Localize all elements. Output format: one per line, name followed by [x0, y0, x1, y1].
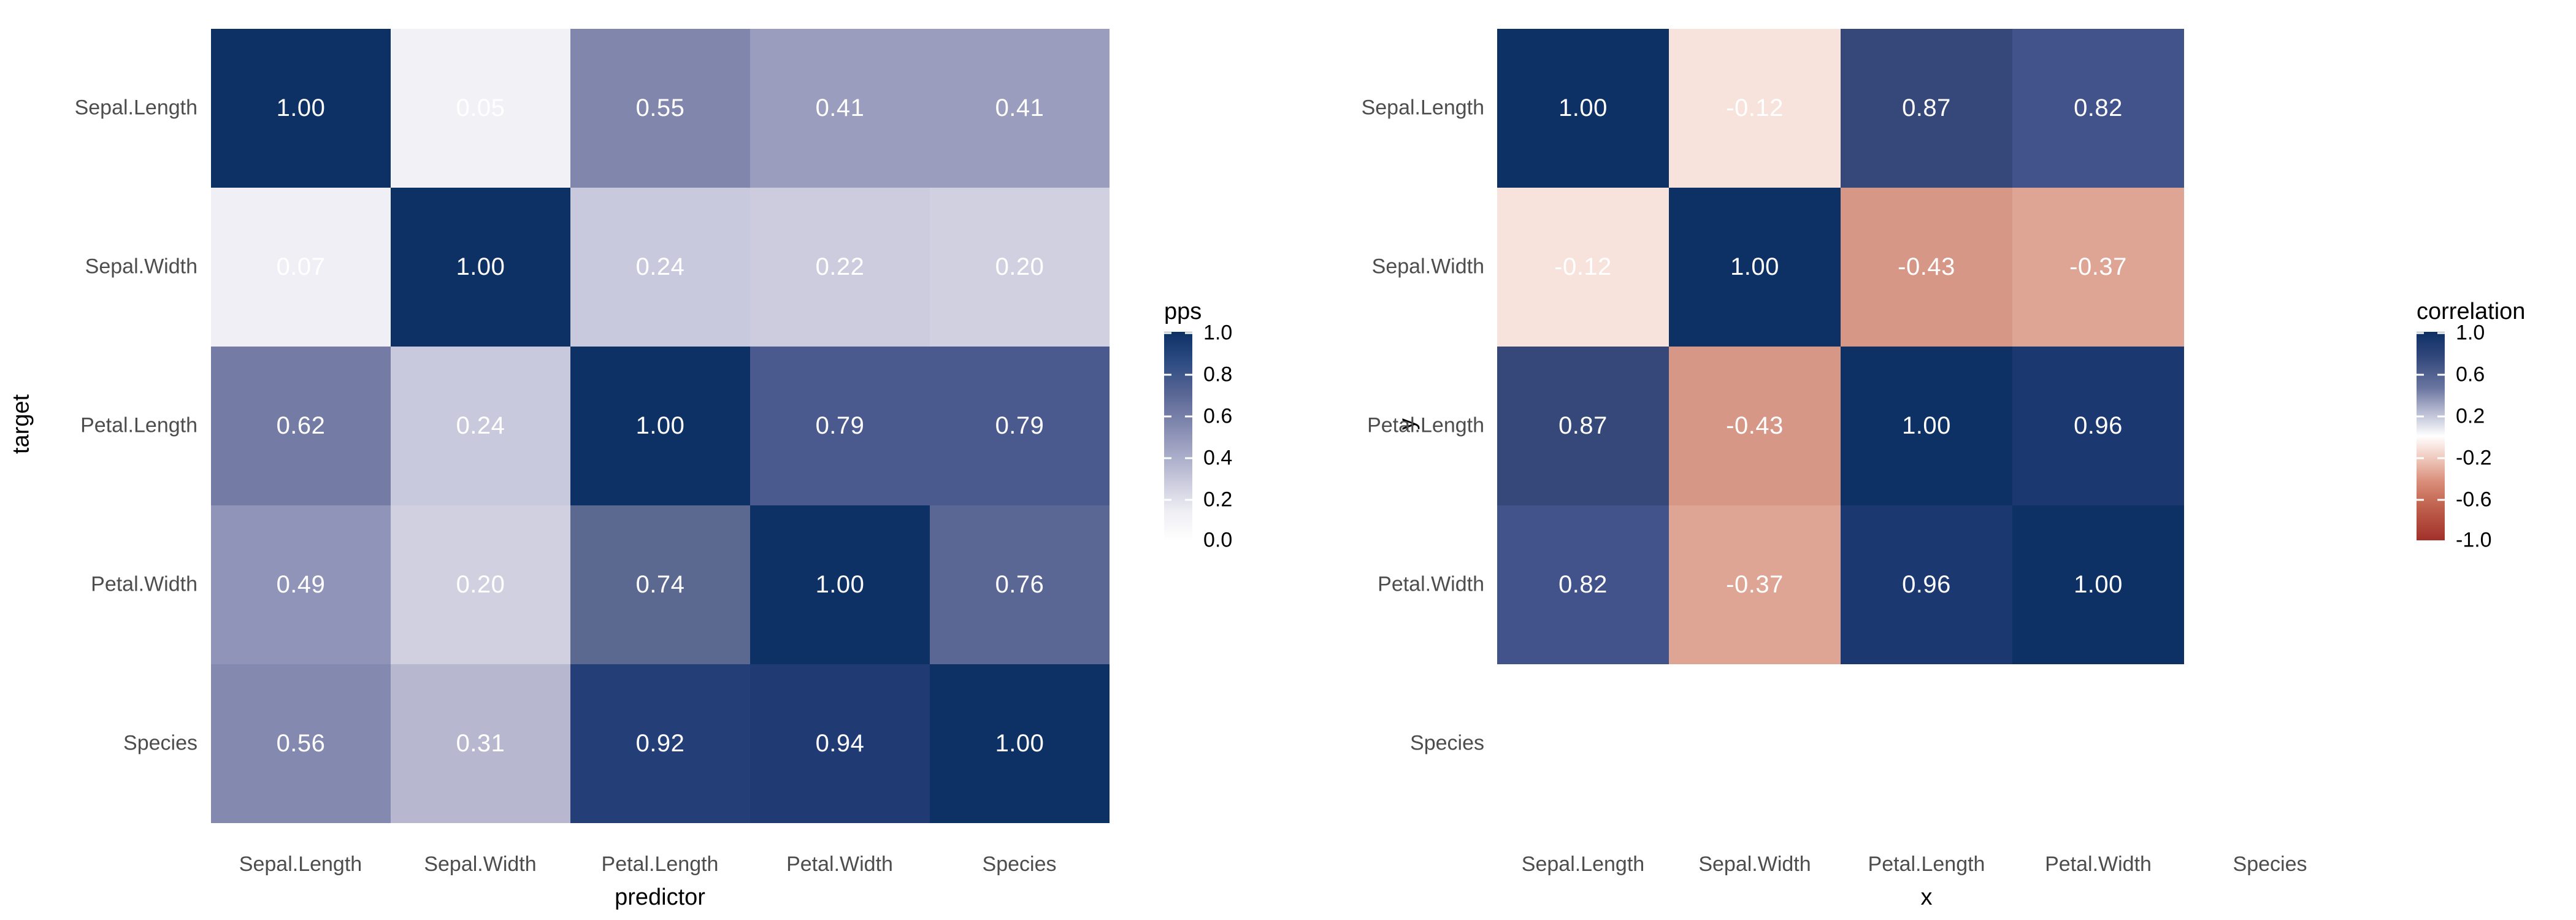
heat-cell[interactable]: 0.96	[1841, 505, 2012, 664]
pps-legend-tick-line	[1164, 499, 1171, 501]
heat-cell[interactable]: 0.79	[930, 347, 1110, 505]
corr-y-tick-4: Species	[1325, 732, 1484, 756]
heat-cell[interactable]: 1.00	[750, 505, 930, 664]
heat-cell-empty	[2012, 664, 2184, 823]
heat-cell[interactable]: 0.62	[211, 347, 391, 505]
heat-cell[interactable]: -0.37	[1669, 505, 1841, 664]
corr-y-tick-1: Sepal.Width	[1325, 255, 1484, 279]
heat-cell[interactable]: 0.56	[211, 664, 391, 823]
heat-cell[interactable]: 0.82	[2012, 29, 2184, 188]
corr-legend-tick-line	[2437, 458, 2445, 459]
pps-legend-tick-line	[1185, 458, 1192, 459]
heat-cell[interactable]: 0.92	[570, 664, 750, 823]
pps-legend-tick-line	[1185, 416, 1192, 418]
heat-cell-empty	[2184, 664, 2356, 823]
corr-legend-colorbar	[2417, 332, 2445, 540]
heat-cell[interactable]: 0.41	[930, 29, 1110, 188]
heat-cell[interactable]: 0.24	[570, 188, 750, 347]
heat-cell[interactable]: 0.24	[391, 347, 570, 505]
heat-cell[interactable]: 0.94	[750, 664, 930, 823]
heat-cell[interactable]: -0.43	[1669, 347, 1841, 505]
heat-cell[interactable]: 0.79	[750, 347, 930, 505]
heat-cell[interactable]: 1.00	[391, 188, 570, 347]
heat-cell-empty	[2184, 29, 2356, 188]
pps-legend-tick-line	[1164, 374, 1171, 376]
corr-x-tick-1: Sepal.Width	[1698, 853, 1811, 876]
heat-cell-empty	[2184, 505, 2356, 664]
pps-legend: pps 1.0 0.8 0.6 0.4 0.2 0.0	[1164, 299, 1287, 556]
heat-cell[interactable]: 0.76	[930, 505, 1110, 664]
heat-cell-empty	[2184, 188, 2356, 347]
heat-cell[interactable]: 0.87	[1497, 347, 1669, 505]
pps-legend-tick-label: 0.4	[1203, 447, 1232, 470]
corr-legend: correlation 1.0 0.6 0.2 -0.2 -0.6 -1.0	[2417, 299, 2564, 556]
pps-legend-tick-label: 0.6	[1203, 405, 1232, 429]
pps-legend-tick-line	[1164, 332, 1171, 334]
pps-x-tick-2: Petal.Length	[602, 853, 719, 876]
heat-cell[interactable]: 0.20	[391, 505, 570, 664]
corr-legend-tick-line	[2417, 499, 2424, 501]
heat-cell[interactable]: -0.12	[1497, 188, 1669, 347]
heat-cell[interactable]: 1.00	[1669, 188, 1841, 347]
corr-y-tick-3: Petal.Width	[1325, 573, 1484, 597]
pps-x-tick-1: Sepal.Width	[424, 853, 536, 876]
corr-legend-tick-label: 0.6	[2456, 363, 2485, 387]
pps-x-tick-4: Species	[983, 853, 1057, 876]
pps-legend-colorbar	[1164, 332, 1192, 540]
pps-y-tick-2: Petal.Length	[38, 414, 197, 438]
corr-y-tick-2: Petal.Length	[1325, 414, 1484, 438]
heat-cell[interactable]: -0.12	[1669, 29, 1841, 188]
heat-cell[interactable]: 0.55	[570, 29, 750, 188]
pps-legend-tick-line	[1185, 332, 1192, 334]
corr-x-tick-3: Petal.Width	[2045, 853, 2152, 876]
heat-cell[interactable]: 1.00	[2012, 505, 2184, 664]
corr-legend-tick-line	[2417, 416, 2424, 418]
corr-legend-tick-label: -1.0	[2456, 529, 2492, 553]
heat-cell[interactable]: -0.37	[2012, 188, 2184, 347]
pps-legend-tick-label: 0.8	[1203, 363, 1232, 387]
corr-legend-tick-label: -0.6	[2456, 488, 2492, 512]
pps-y-tick-0: Sepal.Length	[38, 96, 197, 120]
heat-cell[interactable]: 1.00	[1841, 347, 2012, 505]
heat-cell[interactable]: 0.20	[930, 188, 1110, 347]
pps-legend-tick-line	[1185, 374, 1192, 376]
pps-y-tick-4: Species	[38, 732, 197, 756]
pps-y-tick-1: Sepal.Width	[38, 255, 197, 279]
heat-cell[interactable]: 0.41	[750, 29, 930, 188]
corr-x-tick-4: Species	[2233, 853, 2307, 876]
pps-x-axis-title: predictor	[615, 884, 705, 911]
corr-legend-tick-line	[2437, 416, 2445, 418]
pps-legend-tick-label: 0.2	[1203, 488, 1232, 512]
pps-y-tick-3: Petal.Width	[38, 573, 197, 597]
pps-legend-tick-line	[1164, 458, 1171, 459]
corr-legend-tick-label: 1.0	[2456, 321, 2485, 345]
heat-cell-empty	[1841, 664, 2012, 823]
heat-cell[interactable]: 0.96	[2012, 347, 2184, 505]
heat-cell[interactable]: 0.49	[211, 505, 391, 664]
corr-x-tick-0: Sepal.Length	[1522, 853, 1644, 876]
heat-cell[interactable]: 1.00	[570, 347, 750, 505]
heat-cell[interactable]: 0.31	[391, 664, 570, 823]
pps-legend-tick-line	[1164, 416, 1171, 418]
heat-cell[interactable]: 0.87	[1841, 29, 2012, 188]
heat-cell[interactable]: 0.22	[750, 188, 930, 347]
corr-x-axis-title: x	[1921, 884, 1933, 911]
corr-legend-tick-line	[2437, 499, 2445, 501]
corr-legend-tick-label: -0.2	[2456, 447, 2492, 470]
pps-x-tick-3: Petal.Width	[786, 853, 893, 876]
pps-legend-tick-label: 0.0	[1203, 529, 1232, 553]
corr-heat-grid: 1.00 -0.12 0.87 0.82 -0.12 1.00 -0.43 -0…	[1497, 29, 2356, 823]
heat-cell[interactable]: 1.00	[930, 664, 1110, 823]
heat-cell[interactable]: 0.05	[391, 29, 570, 188]
pps-legend-title: pps	[1164, 299, 1202, 325]
pps-legend-tick-line	[1185, 499, 1192, 501]
heat-cell[interactable]: 1.00	[1497, 29, 1669, 188]
corr-y-tick-0: Sepal.Length	[1325, 96, 1484, 120]
heat-cell-empty	[1497, 664, 1669, 823]
pps-legend-tick-label: 1.0	[1203, 321, 1232, 345]
corr-legend-tick-line	[2417, 458, 2424, 459]
heat-cell[interactable]: 0.74	[570, 505, 750, 664]
corr-legend-tick-line	[2437, 374, 2445, 376]
pps-x-tick-0: Sepal.Length	[239, 853, 362, 876]
corr-legend-tick-line	[2417, 374, 2424, 376]
heat-cell[interactable]: 1.00	[211, 29, 391, 188]
heat-cell[interactable]: -0.43	[1841, 188, 2012, 347]
correlation-heatmap-panel: y Sepal.Length Sepal.Width Petal.Length …	[1288, 0, 2576, 920]
pps-y-axis-title: target	[9, 375, 35, 473]
pps-heat-grid: 1.00 0.05 0.55 0.41 0.41 0.07 1.00 0.24 …	[211, 29, 1110, 823]
corr-legend-tick-label: 0.2	[2456, 405, 2485, 429]
heat-cell-empty	[2184, 347, 2356, 505]
corr-legend-tick-line	[2437, 332, 2445, 334]
corr-legend-tick-line	[2417, 332, 2424, 334]
heat-cell[interactable]: 0.82	[1497, 505, 1669, 664]
heat-cell-empty	[1669, 664, 1841, 823]
corr-x-tick-2: Petal.Length	[1868, 853, 1985, 876]
heat-cell[interactable]: 0.07	[211, 188, 391, 347]
pps-heatmap-panel: target Sepal.Length Sepal.Width Petal.Le…	[0, 0, 1288, 920]
